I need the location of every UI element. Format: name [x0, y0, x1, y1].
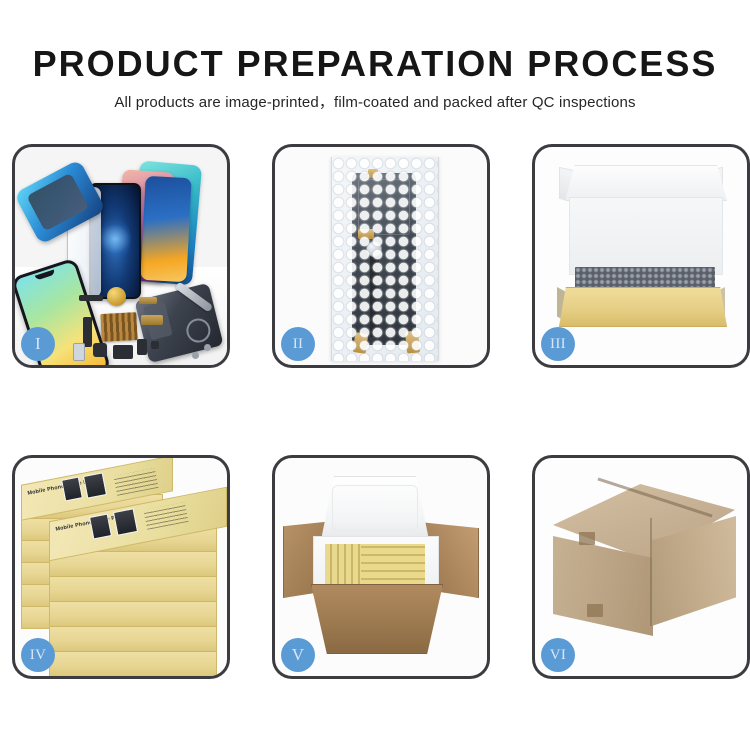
stacked-box	[49, 624, 217, 652]
carton-body-icon	[311, 584, 443, 654]
header: PRODUCT PREPARATION PROCESS All products…	[0, 0, 750, 112]
step-badge-1: I	[21, 327, 55, 361]
step-badge-2: II	[281, 327, 315, 361]
spare-part-icon	[151, 341, 159, 349]
product-preparation-infographic: PRODUCT PREPARATION PROCESS All products…	[0, 0, 750, 750]
box-label-window-icon	[113, 508, 138, 536]
screw-icon	[204, 344, 211, 351]
process-step-card-6: VI	[532, 455, 750, 679]
process-step-card-1: I	[12, 144, 230, 368]
carton-vertical-edge	[650, 518, 652, 626]
spare-part-icon	[83, 317, 92, 347]
spare-part-icon	[139, 297, 157, 304]
box-label-window-icon	[61, 476, 83, 501]
bubble-wrap-bag-icon	[331, 157, 439, 361]
carton-tape-icon	[587, 604, 603, 617]
process-step-card-3: III	[532, 144, 750, 368]
step-badge-6: VI	[541, 638, 575, 672]
foam-lid-icon	[321, 476, 429, 540]
screw-icon	[192, 352, 199, 359]
box-label-window-icon	[89, 513, 112, 539]
stacked-box	[49, 599, 217, 627]
step-badge-5: V	[281, 638, 315, 672]
kraft-box-base-icon	[559, 287, 727, 327]
spare-part-icon	[73, 343, 85, 361]
stacked-box	[49, 649, 217, 676]
phone-orange-icon	[140, 176, 191, 282]
step-badge-3: III	[541, 327, 575, 361]
process-step-card-4: Mobile Phone Spare Parts Mobile Phone Sp…	[12, 455, 230, 679]
packed-retail-boxes	[325, 544, 425, 586]
spare-part-icon	[141, 315, 163, 325]
gold-coil-icon	[107, 287, 126, 306]
spare-part-icon	[93, 343, 107, 357]
boxes-horizontal-row	[361, 544, 425, 586]
spare-part-icon	[79, 295, 103, 301]
carton-tape-icon	[579, 532, 595, 545]
process-step-card-2: II	[272, 144, 490, 368]
chip-grid-icon	[100, 312, 137, 342]
spare-part-icon	[113, 345, 133, 359]
page-subtitle: All products are image-printed，film-coat…	[0, 85, 750, 112]
white-box-lid-icon	[565, 165, 727, 201]
page-title: PRODUCT PREPARATION PROCESS	[0, 0, 750, 85]
process-step-grid: I II	[12, 144, 740, 679]
box-label-window-icon	[83, 472, 107, 498]
stacked-box	[49, 574, 217, 602]
white-box-interior	[569, 197, 723, 275]
step-badge-4: IV	[21, 638, 55, 672]
spare-part-icon	[137, 339, 147, 355]
bubble-texture	[332, 157, 438, 361]
process-step-card-5: V	[272, 455, 490, 679]
boxes-vertical-row	[325, 544, 361, 586]
